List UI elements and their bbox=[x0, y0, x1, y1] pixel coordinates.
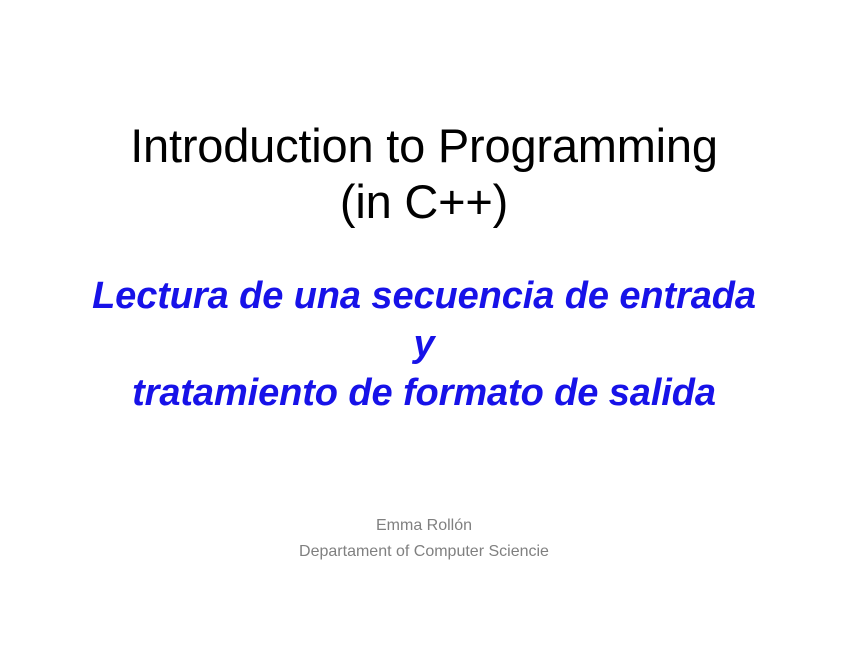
author-name: Emma Rollón bbox=[0, 513, 848, 539]
subtitle-line-2: y bbox=[0, 320, 848, 368]
subtitle-line-3: tratamiento de formato de salida bbox=[0, 369, 848, 417]
title-line-language: (in C++) bbox=[0, 174, 848, 230]
slide-title: Introduction to Programming (in C++) bbox=[0, 118, 848, 230]
slide-subtitle: Lectura de una secuencia de entrada y tr… bbox=[0, 272, 848, 417]
author-affiliation: Departament of Computer Sciencie bbox=[0, 539, 848, 565]
slide-credits: Emma Rollón Departament of Computer Scie… bbox=[0, 513, 848, 564]
title-line-course: Introduction to Programming bbox=[0, 118, 848, 174]
subtitle-line-1: Lectura de una secuencia de entrada bbox=[0, 272, 848, 320]
slide-canvas: Introduction to Programming (in C++) Lec… bbox=[0, 0, 848, 655]
